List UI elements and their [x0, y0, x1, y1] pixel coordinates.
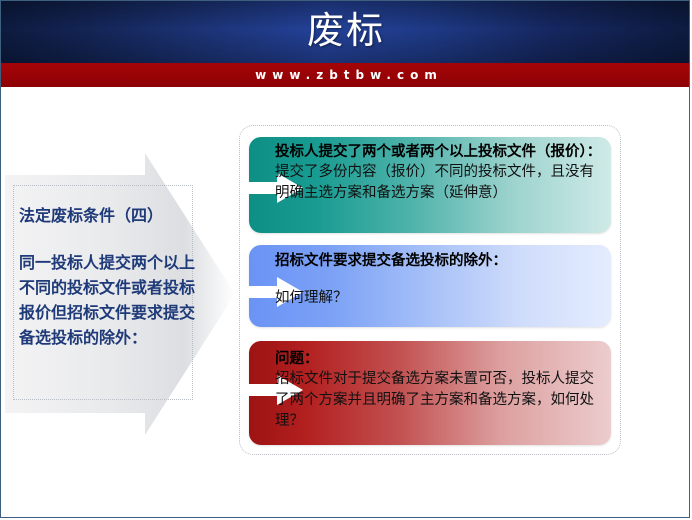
- content-box-blue-title: 招标文件要求提交备选投标的除外：: [275, 251, 603, 271]
- presentation-slide: 废标 www.zbtbw.com 法定废标条件（四） 同一投标人提交两个以上不同…: [0, 0, 690, 518]
- left-callout-text: 法定废标条件（四） 同一投标人提交两个以上不同的投标文件或者投标报价但招标文件要…: [19, 203, 197, 350]
- left-callout-body: 同一投标人提交两个以上不同的投标文件或者投标报价但招标文件要求提交备选投标的除外…: [19, 250, 197, 350]
- slide-header-banner: 废标: [1, 1, 690, 63]
- content-box-teal[interactable]: 投标人提交了两个或者两个以上投标文件（报价）： 提交了多份内容（报价）不同的投标…: [249, 137, 611, 233]
- website-url-bar: www.zbtbw.com: [1, 63, 690, 87]
- content-box-teal-text: 投标人提交了两个或者两个以上投标文件（报价）： 提交了多份内容（报价）不同的投标…: [275, 142, 603, 204]
- website-url-text: www.zbtbw.com: [1, 63, 690, 87]
- content-box-blue[interactable]: 招标文件要求提交备选投标的除外： 如何理解？: [249, 245, 611, 327]
- content-box-red-title: 问题：: [275, 349, 603, 369]
- content-box-blue-body: 如何理解？: [275, 288, 603, 309]
- left-callout-heading: 法定废标条件（四）: [19, 203, 197, 228]
- content-box-teal-body: 提交了多份内容（报价）不同的投标文件，且没有明确主选方案和备选方案（延伸意）: [275, 162, 603, 204]
- content-box-red[interactable]: 问题： 招标文件对于提交备选方案未置可否，投标人提交了两个方案并且明确了主方案和…: [249, 341, 611, 445]
- left-callout: 法定废标条件（四） 同一投标人提交两个以上不同的投标文件或者投标报价但招标文件要…: [0, 153, 235, 435]
- content-box-red-body: 招标文件对于提交备选方案未置可否，投标人提交了两个方案并且明确了主方案和备选方案…: [275, 369, 603, 432]
- content-box-red-text: 问题： 招标文件对于提交备选方案未置可否，投标人提交了两个方案并且明确了主方案和…: [275, 349, 603, 432]
- content-box-teal-title: 投标人提交了两个或者两个以上投标文件（报价）：: [275, 142, 603, 162]
- content-box-blue-text: 招标文件要求提交备选投标的除外： 如何理解？: [275, 251, 603, 309]
- page-title: 废标: [1, 6, 690, 56]
